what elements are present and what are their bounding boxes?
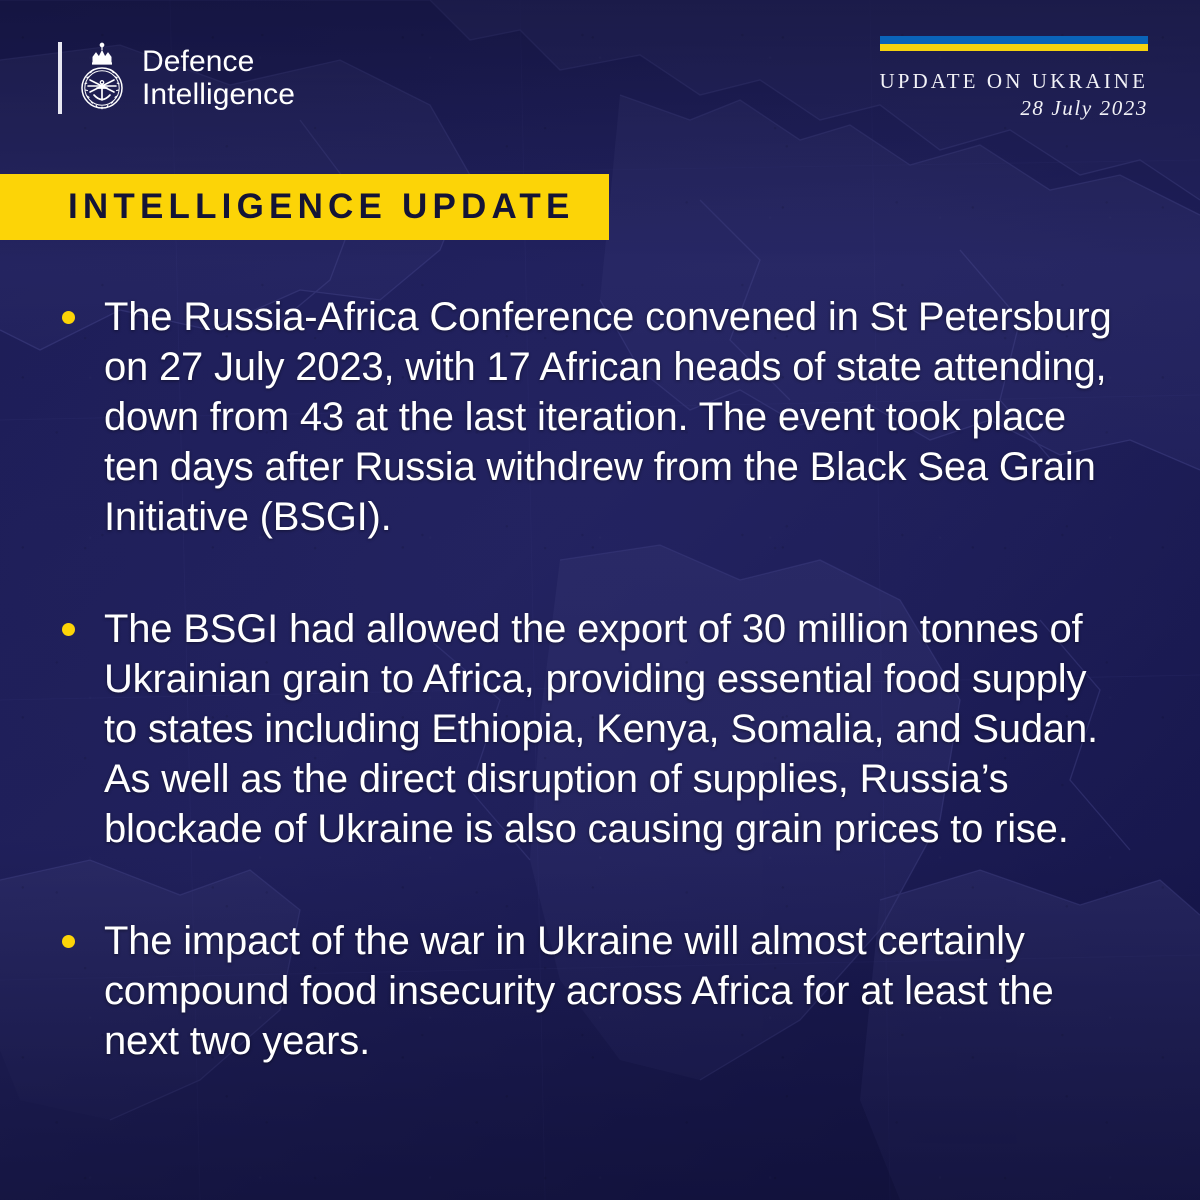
update-meta-block: UPDATE ON UKRAINE 28 July 2023 [879, 36, 1148, 121]
bullet-text: The impact of the war in Ukraine will al… [104, 916, 1112, 1066]
list-item: The Russia-Africa Conference convened in… [62, 292, 1112, 542]
update-date: 28 July 2023 [879, 95, 1148, 121]
flag-stripe-blue [880, 36, 1148, 44]
mod-defence-intelligence-crest-icon [76, 42, 128, 114]
vertical-rule-icon [58, 42, 62, 114]
banner-label: INTELLIGENCE UPDATE [68, 187, 575, 227]
flag-stripe-yellow [880, 44, 1148, 51]
bullet-text: The BSGI had allowed the export of 30 mi… [104, 604, 1112, 854]
brand-line-intelligence: Intelligence [142, 78, 295, 111]
bullet-list: The Russia-Africa Conference convened in… [62, 292, 1112, 1066]
bullet-dot-icon [62, 935, 75, 948]
list-item: The impact of the war in Ukraine will al… [62, 916, 1112, 1066]
brand-text: Defence Intelligence [142, 45, 295, 111]
ukraine-flag-bar-icon [880, 36, 1148, 51]
intelligence-update-banner: INTELLIGENCE UPDATE [0, 174, 609, 240]
page-header: Defence Intelligence UPDATE ON UKRAINE 2… [0, 0, 1200, 150]
brand-line-defence: Defence [142, 45, 295, 78]
update-title: UPDATE ON UKRAINE [879, 69, 1148, 93]
brand-lockup: Defence Intelligence [58, 42, 295, 114]
bullet-text: The Russia-Africa Conference convened in… [104, 292, 1112, 542]
list-item: The BSGI had allowed the export of 30 mi… [62, 604, 1112, 854]
bullet-dot-icon [62, 623, 75, 636]
bullet-dot-icon [62, 311, 75, 324]
